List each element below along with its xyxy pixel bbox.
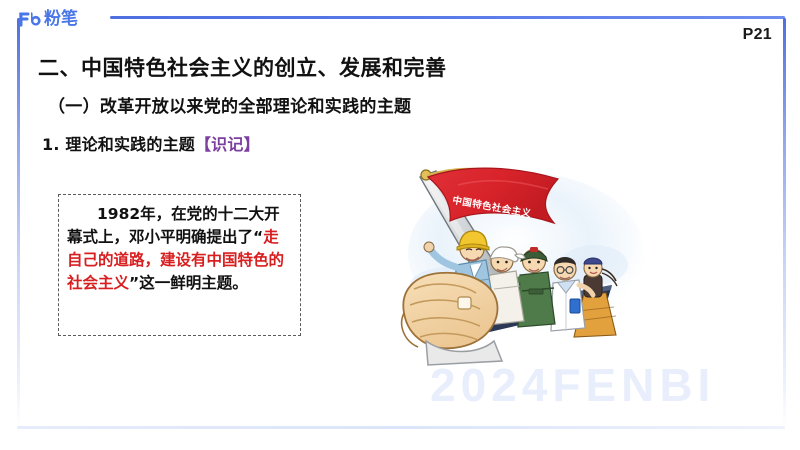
fb-logo-icon [18, 11, 41, 28]
section-title: 二、中国特色社会主义的创立、发展和完善 [38, 52, 447, 82]
subsection-title: （一）改革开放以来党的全部理论和实践的主题 [48, 92, 411, 117]
frame-border-left [17, 18, 20, 428]
hand-holding-red-flag-with-people-illustration: 中国特色社会主义 [398, 165, 683, 370]
item-title: 1. 理论和实践的主题【识记】 [42, 131, 260, 155]
brand-logo: 粉笔 [18, 8, 78, 30]
frame-border-top [110, 16, 785, 19]
item-title-text: 1. 理论和实践的主题 [42, 135, 195, 154]
quote-line-3: 提出了“ [207, 228, 264, 246]
quote-text: 1982年，在党的十二大开幕式上，邓小平明确提出了“走自己的道路，建设有中国特色… [67, 203, 294, 295]
fist-hand-shape [402, 273, 498, 349]
item-tag-badge: 【识记】 [195, 135, 260, 154]
frame-border-bottom [17, 426, 785, 429]
quote-line-1: 1982年，在党的十二 [97, 205, 249, 223]
brand-logo-text: 粉笔 [44, 11, 78, 28]
quote-tail: ”这一鲜明主题。 [129, 274, 248, 292]
watermark-text: 2024FENBI [430, 362, 715, 408]
quote-box: 1982年，在党的十二大开幕式上，邓小平明确提出了“走自己的道路，建设有中国特色… [58, 194, 301, 336]
slide-root: 粉笔 P21 二、中国特色社会主义的创立、发展和完善 （一）改革开放以来党的全部… [0, 0, 800, 450]
quote-highlight-3: 义 [114, 274, 130, 292]
frame-border-right [783, 18, 786, 428]
page-number: P21 [743, 26, 772, 44]
